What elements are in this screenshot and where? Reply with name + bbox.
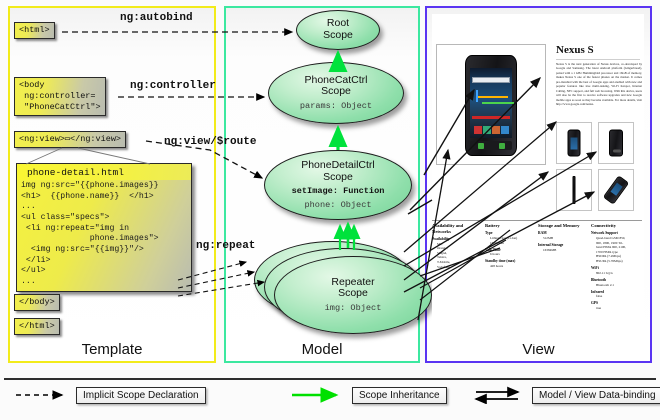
view-rendered-page: Nexus S Nexus S is the next generation o… <box>432 14 644 344</box>
scope-root-title: Root Scope <box>323 18 353 42</box>
spec-value-bluetooth: Bluetooth 2.1 <box>591 283 642 288</box>
product-description: Nexus S is the next generation of Nexus … <box>556 62 642 107</box>
scope-repeater-title-line1: Repeater <box>331 276 374 288</box>
phone-screen <box>470 68 512 138</box>
spec-value-network-5: HSUPA (5.76Mbps) <box>591 259 642 264</box>
spec-header-connectivity: Connectivity <box>591 223 642 229</box>
legend-label-inheritance: Scope Inheritance <box>352 387 447 404</box>
scope-phonedetailctrl-title: PhoneDetailCtrl Scope <box>301 160 375 184</box>
spec-column-availability: Availability and Networks Availability M… <box>432 223 485 311</box>
thumbnail-back[interactable] <box>598 122 634 164</box>
spec-column-connectivity: Connectivity Network Support Quad-band G… <box>591 223 644 311</box>
scope-phonedetailctrl-title-line1: PhoneDetailCtrl <box>301 159 375 171</box>
spec-value-infrared: false <box>591 294 642 299</box>
thumbnail-back-image <box>609 130 623 157</box>
thumbnail-side[interactable] <box>556 169 592 211</box>
column-label-template: Template <box>10 341 214 358</box>
scope-root-title-line2: Scope <box>323 29 353 41</box>
code-box-ng-view: <ng:view>▭</ng:view> <box>14 131 126 148</box>
phone-hero-image-frame <box>436 44 546 165</box>
spec-header-battery: Battery <box>485 223 536 229</box>
diagram-canvas: Template Model View <html> <body ng:cont… <box>0 0 660 420</box>
scope-phonedetailctrl-prop-phone: phone: Object <box>304 200 371 210</box>
scope-phonedetailctrl-prop-setimage: setImage: Function <box>292 186 385 196</box>
app-icon-green <box>483 126 491 134</box>
spec-header-availability: Availability and Networks <box>432 223 483 234</box>
spec-header-storage: Storage and Memory <box>538 223 589 229</box>
thumbnail-front-image <box>568 130 581 157</box>
spec-table-rule <box>432 220 642 221</box>
spec-value-battery-standby: 428 hours <box>485 264 536 269</box>
dashed-arrow-icon <box>14 386 70 404</box>
code-note-phone-detail: phone-detail.html img ng:src="{{phone.im… <box>16 163 192 292</box>
code-box-html-open: <html> <box>14 22 55 39</box>
product-title: Nexus S <box>556 44 594 56</box>
thumbnail-front[interactable] <box>556 122 592 164</box>
phone-screen-line-green <box>482 102 514 104</box>
spec-value-battery-type-1: 1500 mAh <box>485 241 536 246</box>
spec-value-battery-talktime: 6 hours <box>485 252 536 257</box>
connector-label-ng-repeat: ng:repeat <box>196 240 255 252</box>
spec-column-storage: Storage and Memory RAM 512MB Internal St… <box>538 223 591 311</box>
connector-label-ng-view-route: ng:view/$route <box>164 136 256 148</box>
scope-phonecatctrl: PhoneCatCtrl Scope params: Object <box>268 62 404 124</box>
spec-value-gps: true <box>591 306 642 311</box>
scope-phonedetailctrl-title-line2: Scope <box>323 171 353 183</box>
legend-divider <box>4 378 656 380</box>
scope-phonecatctrl-title-line1: PhoneCatCtrl <box>304 74 367 86</box>
scope-repeater-title: Repeater Scope <box>331 277 374 301</box>
scope-repeater: Repeater Scope img: Object <box>274 256 432 334</box>
scope-root: Root Scope <box>296 10 380 50</box>
spec-table: Availability and Networks Availability M… <box>432 223 644 311</box>
scope-phonecatctrl-title: PhoneCatCtrl Scope <box>304 75 367 99</box>
legend-label-implicit: Implicit Scope Declaration <box>76 387 206 404</box>
scope-root-title-line1: Root <box>327 17 349 29</box>
scope-phonecatctrl-title-line2: Scope <box>321 85 351 97</box>
legend-item-scope-inheritance: Scope Inheritance <box>290 386 447 404</box>
scope-phonedetailctrl: PhoneDetailCtrl Scope setImage: Function… <box>264 150 412 220</box>
soft-key-back <box>478 143 484 149</box>
phone-screen-red-bar <box>472 116 510 119</box>
product-title-rule <box>556 59 640 60</box>
legend: Implicit Scope Declaration Scope Inherit… <box>0 378 660 420</box>
note-title-phone-detail: phone-detail.html <box>17 164 191 180</box>
app-icon-orange <box>492 126 500 134</box>
green-arrow-icon <box>290 386 346 404</box>
spec-value-internal-storage: 16384MB <box>538 248 589 253</box>
spec-value-ram: 512MB <box>538 236 589 241</box>
legend-item-data-binding: Model / View Data-binding <box>470 386 660 404</box>
phone-soft-key-row <box>470 141 512 150</box>
phone-url-bar <box>472 77 510 83</box>
thumbnail-angled[interactable] <box>598 169 634 211</box>
code-box-body-close: </body> <box>14 294 60 311</box>
column-label-model: Model <box>226 341 418 358</box>
scope-repeater-prop-img: img: Object <box>325 303 382 313</box>
connector-label-ng-autobind: ng:autobind <box>120 12 193 24</box>
spec-value-availability-5: Vodafone <box>432 265 483 270</box>
scope-phonecatctrl-prop-params: params: Object <box>300 101 372 111</box>
connector-label-ng-controller: ng:controller <box>130 80 216 92</box>
note-code-phone-detail: img ng:src="{{phone.images}} <h1> {{phon… <box>17 180 191 291</box>
app-icon-blue <box>501 126 509 134</box>
soft-key-home <box>499 143 505 149</box>
app-icon-red <box>474 126 482 134</box>
double-arrow-icon <box>470 386 526 404</box>
code-box-html-close: </html> <box>14 318 60 335</box>
legend-item-implicit-scope-declaration: Implicit Scope Declaration <box>14 386 206 404</box>
spec-column-battery: Battery Type Lithium Ion (Li-Ion) 1500 m… <box>485 223 538 311</box>
phone-app-icon-row <box>473 124 509 135</box>
phone-screen-line-orange <box>478 96 508 98</box>
scope-repeater-title-line2: Scope <box>338 287 368 299</box>
legend-label-databinding: Model / View Data-binding <box>532 387 660 404</box>
spec-value-wifi: 802.11 b/g/n <box>591 271 642 276</box>
phone-hero-image <box>465 55 517 156</box>
thumbnail-angled-image <box>603 175 629 204</box>
thumbnail-side-image <box>573 176 576 204</box>
code-box-body-open: <body ng:controller= "PhoneCatCtrl"> <box>14 77 106 116</box>
